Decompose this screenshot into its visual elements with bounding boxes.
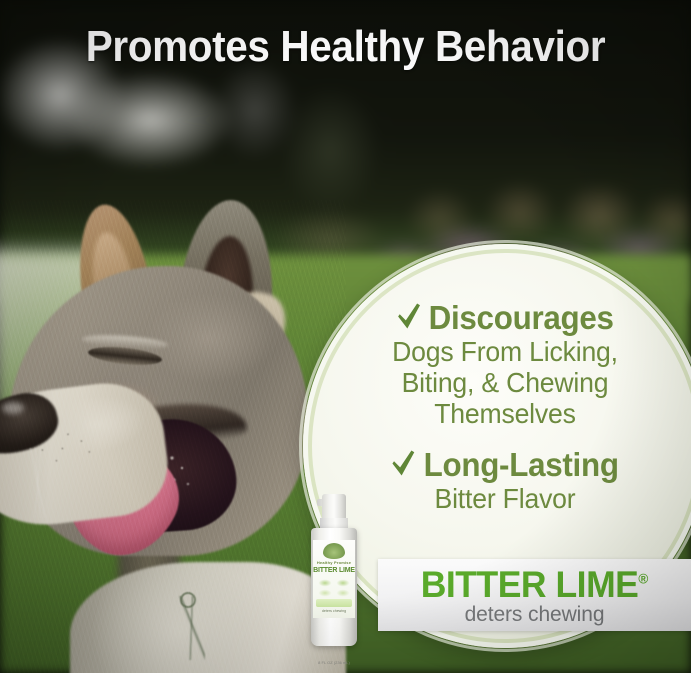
brand-logo-name: BITTER LIME [421,564,639,605]
bottle-label-feature-badges [316,578,352,598]
brand-logo-panel: BITTER LIME® deters chewing [378,559,691,631]
benefit-1-heading: Discourages [429,299,614,336]
benefit-1-subtext: Dogs From Licking, Biting, & Chewing The… [348,336,662,429]
bottle-volume-text: 8 FL OZ (236 mL) [311,660,357,665]
bottle-label-logo-icon [323,543,345,559]
benefit-2-subtext: Bitter Flavor [348,483,662,514]
bottle-label: Healthy Promise BITTER LIME deters chewi… [313,540,355,618]
page-title: Promotes Healthy Behavior [28,22,664,72]
benefit-1-line-3: Themselves [348,398,662,429]
benefit-item-1: Discourages Dogs From Licking, Biting, &… [340,300,670,429]
bottle-label-title: BITTER LIME [313,567,355,574]
bottle-cap [322,494,346,520]
check-mark-icon [396,301,421,331]
bottle-label-brand-small: Healthy Promise [313,560,355,565]
product-marketing-image: Promotes Healthy Behavior Discourages Do… [0,0,691,673]
benefit-2-heading: Long-Lasting [424,446,619,483]
benefit-1-line-2: Biting, & Chewing [348,367,662,398]
benefit-1-line-1: Dogs From Licking, [348,336,662,367]
registered-trademark-icon: ® [638,571,648,587]
bottle-label-band [316,599,352,607]
benefit-item-2: Long-Lasting Bitter Flavor [340,447,670,514]
product-bottle: 8 FL OZ (236 mL) Healthy Promise BITTER … [303,494,365,646]
benefit-2-line-1: Bitter Flavor [348,483,662,514]
brand-logo-tagline: deters chewing [378,603,691,627]
dog-photo-subject [0,96,346,673]
brand-logo-wordmark: BITTER LIME® [384,564,684,606]
benefits-list: Discourages Dogs From Licking, Biting, &… [340,300,670,526]
benefit-2-heading-row: Long-Lasting [348,447,662,483]
dog-collar-tag [179,596,205,660]
benefit-1-heading-row: Discourages [348,300,662,336]
dog-nose-highlight [2,402,24,414]
dog-whiskers [0,448,104,518]
check-mark-icon [391,448,416,478]
bottle-label-tagline: deters chewing [313,609,355,613]
